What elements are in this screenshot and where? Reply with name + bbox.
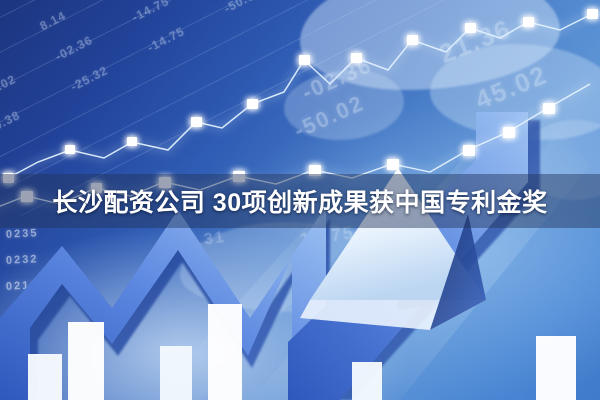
value-text: 0232 — [6, 253, 39, 267]
faint-number: -50.02 — [290, 90, 369, 144]
ticker-row: 0.38 -25.32 -14.75 -50.02 22.31 — [0, 0, 466, 142]
title-banner: 长沙配资公司 30项创新成果获中国专利金奖 — [0, 174, 600, 228]
promo-banner-image: 4.75 1.25 -50.02 -02.36 21.36 -11.25 4.2… — [0, 0, 600, 400]
cloud-blob — [284, 70, 404, 140]
cloud-blob — [300, 0, 560, 90]
ticker-row: -50.02 -02.36 -14.75 -25.32 -02.36 — [0, 0, 451, 111]
ticker-row: -11.25 4.25 -02.36 -11.25 45.02 — [0, 0, 404, 21]
value-text: 0212 — [6, 279, 39, 293]
faint-number: 45.02 — [471, 59, 552, 116]
cloud-blob — [430, 44, 600, 140]
value-text: 0235 — [6, 227, 39, 241]
ticker-row: -50.02 1.16 -50.02 -02.36 4.36 — [0, 0, 420, 51]
faint-number: 21.36 — [435, 13, 516, 70]
faint-number: 02.31 — [175, 229, 227, 254]
ticker-row: -50.36 8.14 -25.32 -50.02 1.86 — [0, 0, 435, 81]
faint-number: -02.36 — [298, 52, 377, 106]
cloud-blob — [180, 222, 390, 312]
lower-left-values: 0235 0232 0212 — [6, 228, 38, 306]
page-title: 长沙配资公司 30项创新成果获中国专利金奖 — [52, 183, 547, 219]
